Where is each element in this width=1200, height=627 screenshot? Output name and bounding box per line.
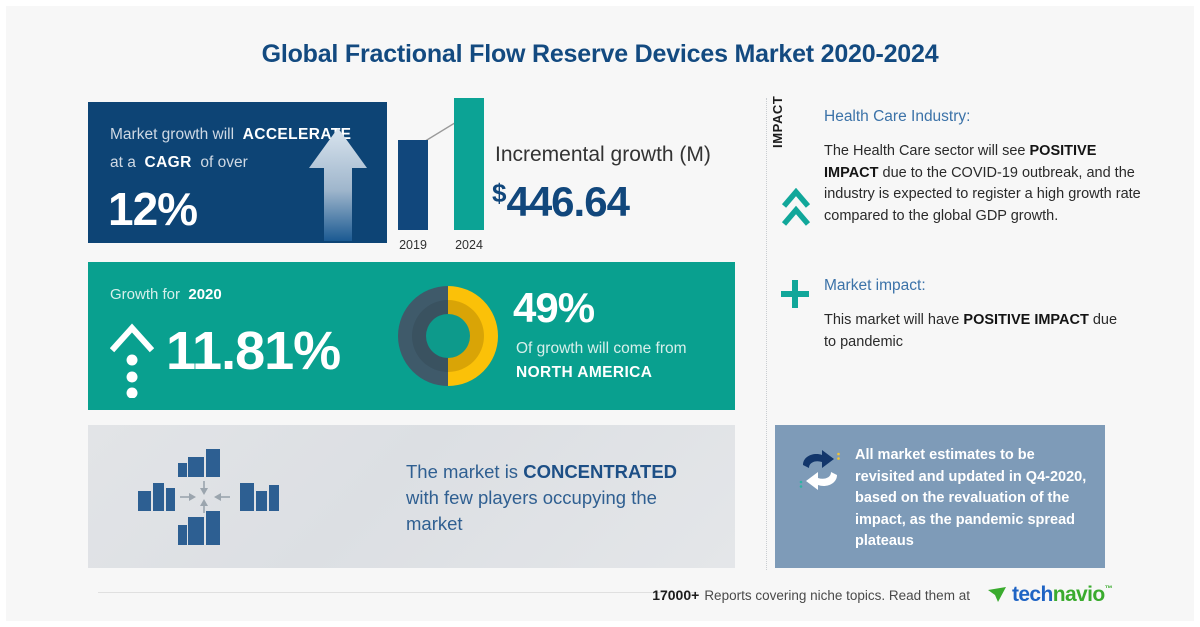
concentration-text-b: with few players occupying the market: [406, 487, 657, 534]
plus-icon: [779, 278, 811, 310]
cagr-line2-plain-b: of over: [200, 154, 247, 171]
growth-value: 11.81%: [166, 320, 340, 382]
incremental-growth-label: Incremental growth (M): [495, 143, 711, 167]
region-share-donut-chart: [396, 284, 500, 388]
health-care-body: The Health Care sector will see POSITIVE…: [824, 141, 1144, 227]
growth-panel: Growth for 2020 11.81% 49% Of growth wil…: [88, 262, 735, 410]
cagr-panel: Market growth will ACCELERATE at a CAGR …: [88, 102, 387, 243]
share-caption: Of growth will come from: [516, 340, 687, 358]
health-care-heading: Health Care Industry:: [824, 108, 970, 126]
reports-count: 17000+: [652, 587, 699, 603]
city-buildings-icon: [136, 447, 286, 547]
logo-navio-text: navio: [1053, 583, 1105, 606]
cagr-value: 12%: [108, 182, 197, 236]
market-concentration-panel: The market is CONCENTRATED with few play…: [88, 425, 735, 568]
share-percentage: 49%: [513, 284, 594, 332]
up-trend-icon: [110, 322, 154, 398]
technavio-logo[interactable]: technavio™: [987, 583, 1112, 607]
cagr-line1-plain: Market growth will: [110, 126, 234, 143]
incremental-growth-chart: 2019 2024: [390, 104, 508, 252]
concentration-text-a: The market is: [406, 461, 523, 482]
growth-for-label: Growth for 2020: [110, 286, 222, 303]
market-impact-heading: Market impact:: [824, 277, 926, 295]
footer-divider: [98, 592, 698, 593]
cagr-line2-plain-a: at a: [110, 154, 136, 171]
health-care-body-a: The Health Care sector will see: [824, 143, 1030, 159]
growth-for-year: 2020: [188, 286, 221, 303]
up-arrow-icon: [307, 126, 369, 241]
refresh-cycle-icon: [797, 449, 843, 491]
logo-trademark: ™: [1105, 584, 1112, 593]
concentration-text: The market is CONCENTRATED with few play…: [406, 459, 711, 537]
bar-label-2024: 2024: [447, 238, 491, 252]
column-divider: [766, 98, 767, 570]
bar-2024: [454, 98, 484, 230]
impact-vertical-label: IMPACT: [770, 78, 790, 148]
cagr-word: CAGR: [144, 154, 191, 171]
incremental-amount: 446.64: [506, 178, 628, 225]
cagr-line-2: at a CAGR of over: [110, 154, 248, 172]
bar-label-2019: 2019: [391, 238, 435, 252]
bar-2019: [398, 140, 428, 230]
market-impact-body: This market will have POSITIVE IMPACT du…: [824, 310, 1124, 353]
double-chevron-up-icon: [782, 188, 810, 228]
currency-symbol: $: [492, 178, 506, 208]
growth-for-text: Growth for: [110, 286, 180, 303]
footer-text: Reports covering niche topics. Read them…: [704, 588, 970, 603]
infographic-canvas: Global Fractional Flow Reserve Devices M…: [0, 0, 1200, 627]
concentration-keyword: CONCENTRATED: [523, 461, 677, 482]
logo-tech-text: tech: [1012, 583, 1053, 606]
technavio-arrow-icon: [987, 585, 1009, 605]
market-impact-body-a: This market will have: [824, 312, 963, 328]
footer: 17000+ Reports covering niche topics. Re…: [652, 583, 1112, 607]
incremental-growth-value: $446.64: [492, 178, 629, 226]
page-title: Global Fractional Flow Reserve Devices M…: [0, 40, 1200, 69]
revision-notice-box: All market estimates to be revisited and…: [775, 425, 1105, 568]
revision-notice-text: All market estimates to be revisited and…: [855, 445, 1093, 553]
market-impact-keyword: POSITIVE IMPACT: [963, 312, 1088, 328]
share-region: NORTH AMERICA: [516, 364, 652, 382]
